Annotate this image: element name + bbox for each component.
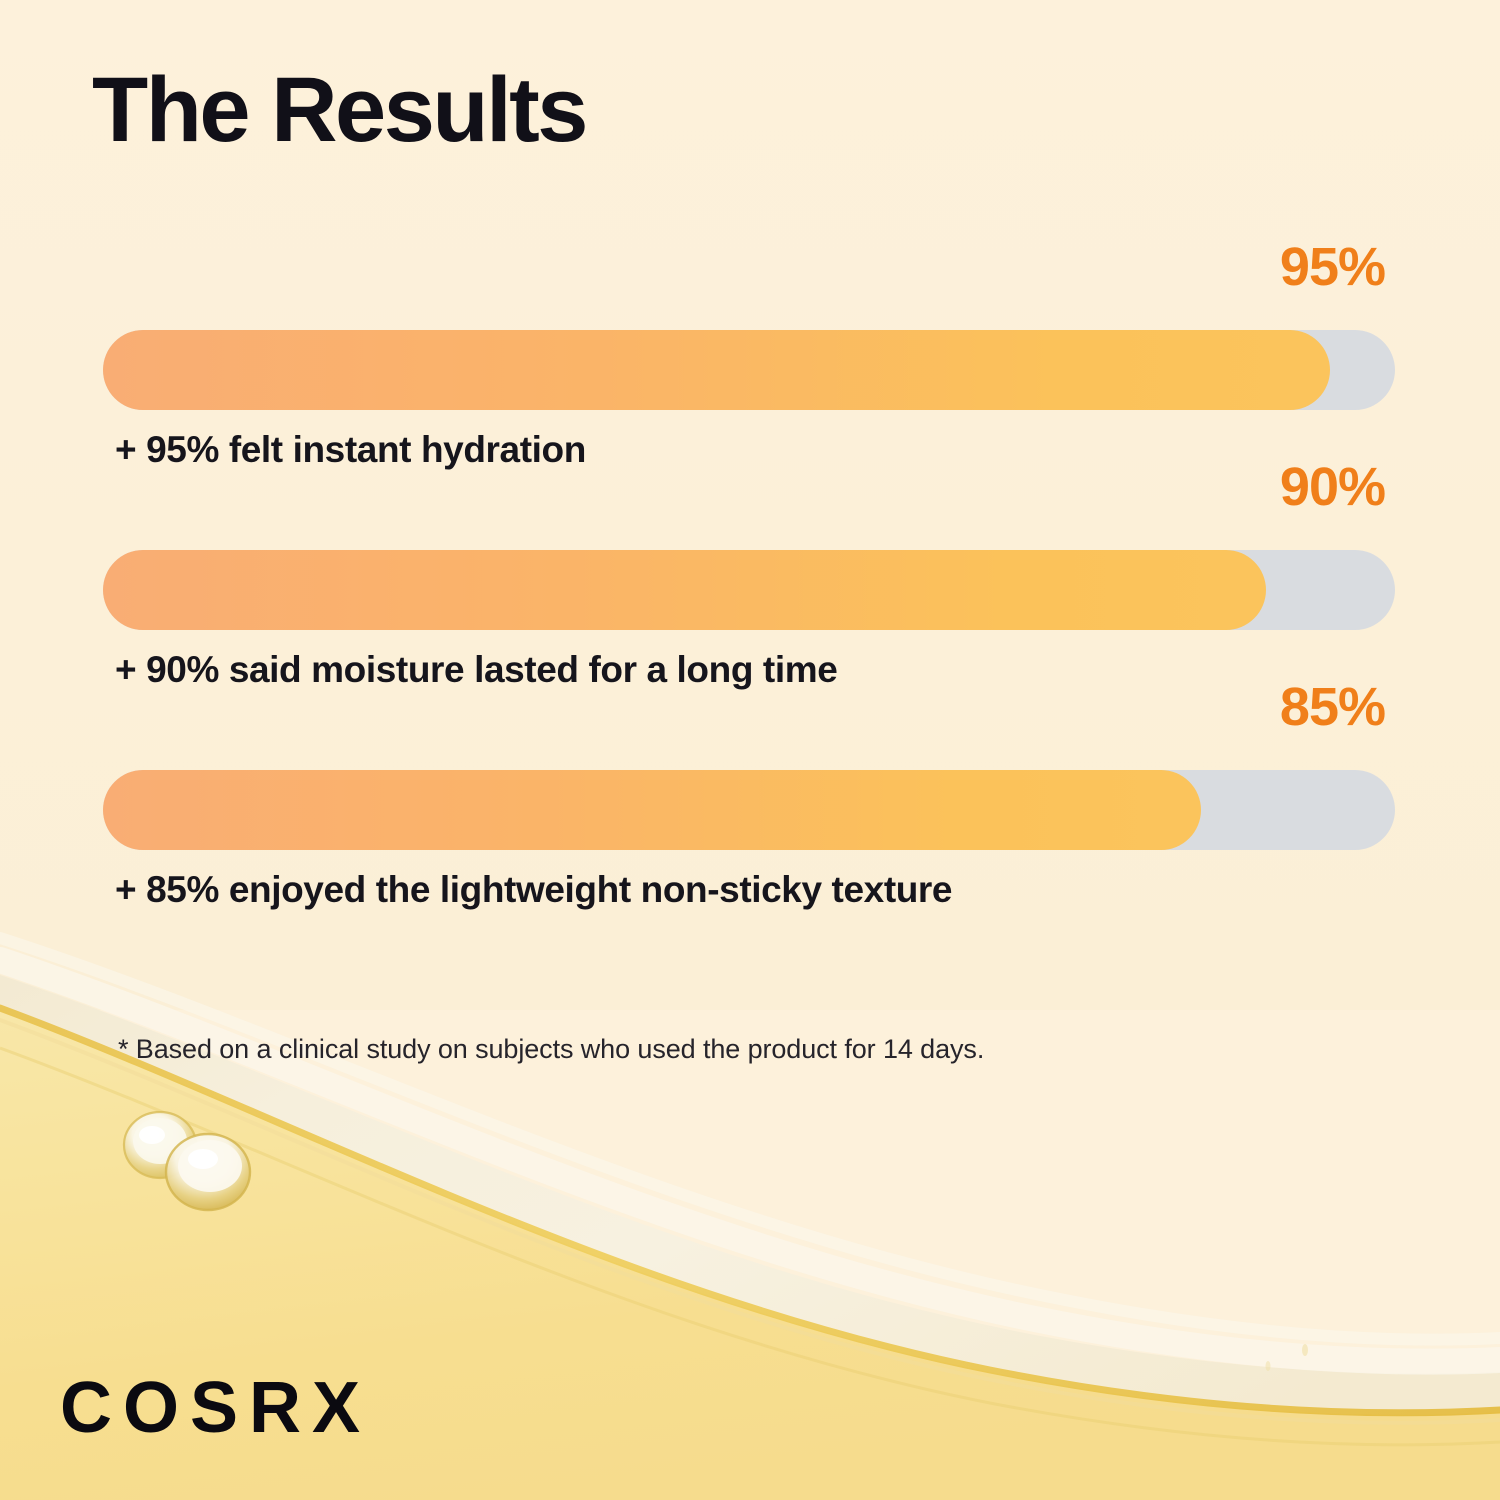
result-caption: + 95% felt instant hydration	[115, 430, 586, 471]
progress-bar-track	[103, 550, 1395, 630]
oil-bubble-upper	[124, 1112, 196, 1178]
percent-label: 85%	[1280, 680, 1385, 734]
infographic-canvas: The Results 95% + 95% felt instant hydra…	[0, 0, 1500, 1500]
progress-bar-fill	[103, 770, 1201, 850]
page-title: The Results	[92, 62, 586, 159]
brand-logo: COSRX	[60, 1372, 371, 1444]
progress-bar-fill	[103, 550, 1266, 630]
progress-bar-track	[103, 330, 1395, 410]
oil-bubble-lower	[166, 1134, 250, 1210]
result-caption: + 85% enjoyed the lightweight non-sticky…	[115, 870, 952, 911]
percent-label: 90%	[1280, 460, 1385, 514]
progress-bar-fill	[103, 330, 1330, 410]
progress-bar-track	[103, 770, 1395, 850]
footnote-disclaimer: * Based on a clinical study on subjects …	[118, 1032, 984, 1067]
result-caption: + 90% said moisture lasted for a long ti…	[115, 650, 837, 691]
percent-label: 95%	[1280, 240, 1385, 294]
oil-serum-photo-background	[0, 0, 1500, 1500]
